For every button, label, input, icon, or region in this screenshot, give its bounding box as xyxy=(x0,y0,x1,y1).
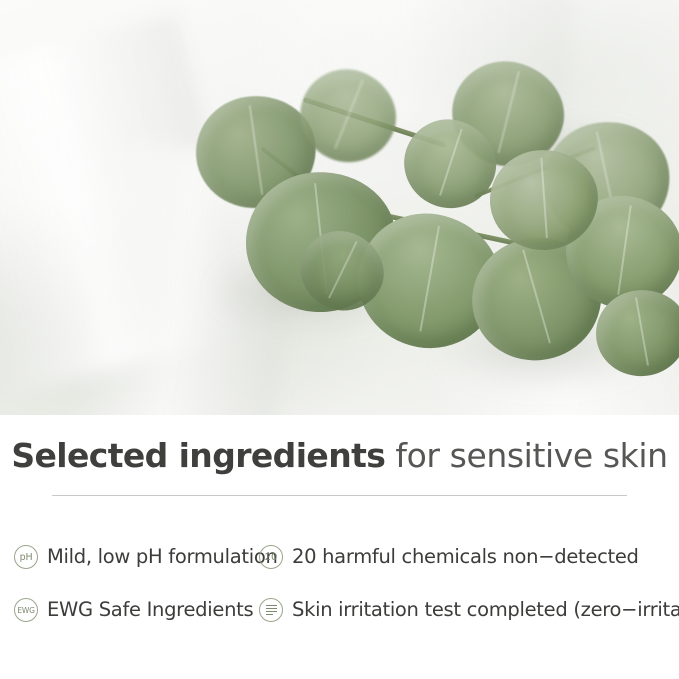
document-badge-icon xyxy=(259,598,283,622)
ewg-badge-text: EWG xyxy=(17,606,34,615)
ph-badge-icon: pH xyxy=(14,545,38,569)
twenty-badge-icon: 20 xyxy=(259,545,283,569)
feature-label: Mild, low pH formulation xyxy=(47,547,278,567)
feature-item-irritation-test: Skin irritation test completed (zero−irr… xyxy=(259,598,679,622)
product-detail-page: Selected ingredients for sensitive skin … xyxy=(0,0,679,679)
document-lines xyxy=(266,605,277,616)
title-divider xyxy=(52,495,627,496)
page-title: Selected ingredients for sensitive skin xyxy=(0,436,679,475)
feature-item-ph: pH Mild, low pH formulation xyxy=(14,545,278,569)
feature-label: EWG Safe Ingredients xyxy=(47,600,253,620)
feature-item-chemicals: 20 20 harmful chemicals non−detected xyxy=(259,545,639,569)
feature-label: Skin irritation test completed (zero−irr… xyxy=(292,600,679,620)
headline-light: for sensitive skin xyxy=(385,436,667,475)
twenty-badge-text: 20 xyxy=(265,552,278,563)
hero-photo xyxy=(0,0,679,415)
feature-row-1: pH Mild, low pH formulation 20 20 harmfu… xyxy=(0,534,679,580)
feature-item-ewg: EWG EWG Safe Ingredients xyxy=(14,598,253,622)
feature-list: pH Mild, low pH formulation 20 20 harmfu… xyxy=(0,534,679,654)
ewg-badge-icon: EWG xyxy=(14,598,38,622)
feature-label: 20 harmful chemicals non−detected xyxy=(292,547,639,567)
feature-row-2: EWG EWG Safe Ingredients Skin irritation… xyxy=(0,587,679,633)
ph-badge-text: pH xyxy=(20,552,33,563)
headline-strong: Selected ingredients xyxy=(11,436,385,475)
